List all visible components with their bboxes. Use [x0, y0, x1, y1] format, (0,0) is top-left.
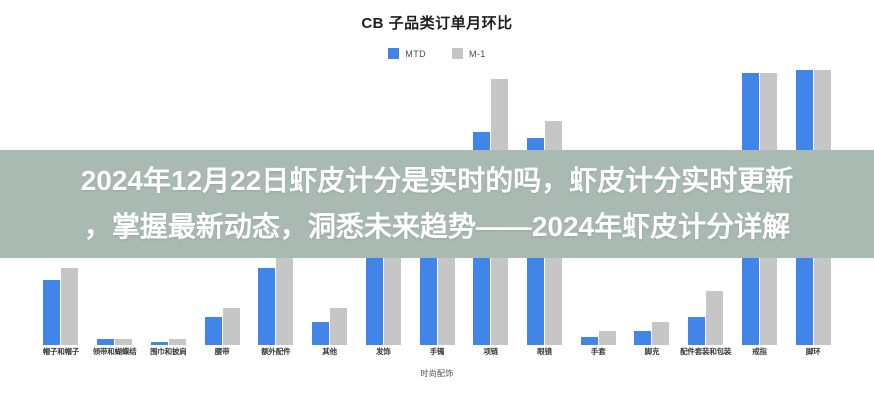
bar-mtd[interactable] — [366, 257, 383, 345]
chart-title: CB 子品类订单月环比 — [0, 12, 874, 33]
bar-mtd[interactable] — [688, 317, 705, 345]
legend-label-mtd: MTD — [405, 49, 426, 59]
x-tick-label: 手镯 — [410, 346, 464, 357]
x-tick-label: 帽子和帽子 — [34, 346, 88, 357]
bar-m-1[interactable] — [223, 308, 240, 345]
bar-category-group — [303, 70, 357, 345]
bar-mtd[interactable] — [97, 339, 114, 345]
bar-category-group — [625, 70, 679, 345]
bar-m-1[interactable] — [706, 291, 723, 345]
bar-mtd[interactable] — [634, 331, 651, 345]
bar-category-group — [571, 70, 625, 345]
bar-m-1[interactable] — [61, 268, 78, 345]
x-tick-label: 围巾和披肩 — [141, 346, 195, 357]
bar-mtd[interactable] — [527, 138, 544, 345]
bar-mtd[interactable] — [205, 317, 222, 345]
x-tick-label: 项链 — [464, 346, 518, 357]
bar-category-group — [356, 70, 410, 345]
bar-category-group — [679, 70, 733, 345]
bar-m-1[interactable] — [599, 331, 616, 345]
bar-category-group — [195, 70, 249, 345]
bar-mtd[interactable] — [742, 73, 759, 345]
bar-category-group — [786, 70, 840, 345]
bar-category-group — [141, 70, 195, 345]
x-tick-label: 脚克 — [625, 346, 679, 357]
x-tick-label: 脚环 — [786, 346, 840, 357]
bar-category-group — [88, 70, 142, 345]
bar-m-1[interactable] — [438, 203, 455, 345]
plot-area — [34, 70, 840, 345]
bar-category-group — [249, 70, 303, 345]
x-axis-title: 时尚配饰 — [0, 368, 874, 379]
bar-m-1[interactable] — [276, 240, 293, 345]
x-tick-label: 额外配件 — [249, 346, 303, 357]
x-tick-label: 领带和蝴蝶结 — [88, 346, 142, 357]
chart-legend: MTD M-1 — [0, 48, 874, 59]
legend-label-m1: M-1 — [469, 49, 486, 59]
bar-m-1[interactable] — [169, 339, 186, 345]
bar-mtd[interactable] — [43, 280, 60, 345]
bar-category-group — [34, 70, 88, 345]
bar-m-1[interactable] — [330, 308, 347, 345]
bar-group — [34, 70, 840, 345]
legend-swatch-blue-icon — [388, 48, 399, 59]
x-tick-label: 戒指 — [733, 346, 787, 357]
bar-m-1[interactable] — [384, 226, 401, 345]
x-tick-label: 眼镜 — [518, 346, 572, 357]
x-tick-label: 发饰 — [356, 346, 410, 357]
bar-mtd[interactable] — [312, 322, 329, 345]
bar-mtd[interactable] — [796, 70, 813, 345]
bar-m-1[interactable] — [115, 339, 132, 345]
screenshot-root: CB 子品类订单月环比 MTD M-1 帽子和帽子领带和蝴蝶结围巾和披肩腰带额外… — [0, 0, 874, 400]
legend-item-m1[interactable]: M-1 — [452, 48, 486, 59]
x-tick-label: 手套 — [571, 346, 625, 357]
bar-m-1[interactable] — [491, 79, 508, 345]
bar-m-1[interactable] — [814, 70, 831, 345]
bar-mtd[interactable] — [258, 268, 275, 345]
legend-swatch-gray-icon — [452, 48, 463, 59]
bar-mtd[interactable] — [420, 212, 437, 345]
x-tick-label: 配件套装和包装 — [679, 346, 733, 357]
bar-m-1[interactable] — [652, 322, 669, 345]
bar-m-1[interactable] — [760, 73, 777, 345]
bar-category-group — [518, 70, 572, 345]
bar-category-group — [410, 70, 464, 345]
x-tick-label: 其他 — [303, 346, 357, 357]
bar-m-1[interactable] — [545, 121, 562, 345]
bar-mtd[interactable] — [473, 132, 490, 345]
bar-category-group — [733, 70, 787, 345]
x-tick-label: 腰带 — [195, 346, 249, 357]
bar-mtd[interactable] — [581, 337, 598, 346]
x-axis-tick-labels: 帽子和帽子领带和蝴蝶结围巾和披肩腰带额外配件其他发饰手镯项链眼镜手套脚克配件套装… — [34, 346, 840, 357]
legend-item-mtd[interactable]: MTD — [388, 48, 426, 59]
bar-mtd[interactable] — [151, 342, 168, 345]
bar-category-group — [464, 70, 518, 345]
